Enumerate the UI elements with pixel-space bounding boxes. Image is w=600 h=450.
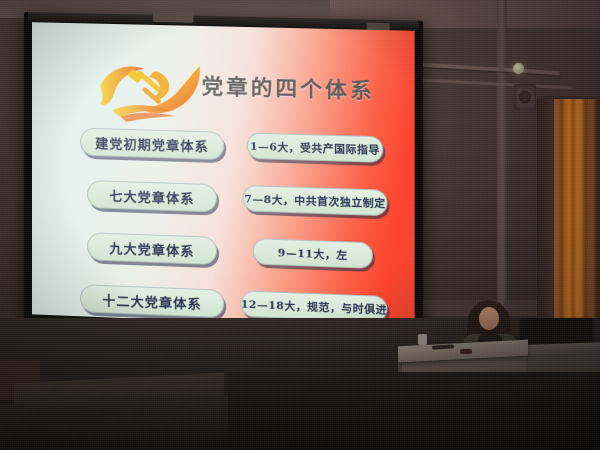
foreground-dark-right: [228, 372, 600, 450]
slide-title: 党章的四个体系: [202, 70, 409, 106]
projection-screen: 党章的四个体系 建党初期党章体系 1—6大，受共产国际指导 七大党章体系 7—8…: [24, 12, 423, 338]
right-pill-2: 9—11大，左: [253, 238, 373, 269]
left-pill-1: 七大党章体系: [87, 180, 217, 213]
screen-bracket-left: [153, 11, 194, 23]
left-pill-2: 九大党章体系: [87, 232, 217, 265]
right-pill-1: 7—8大，中共首次独立制定: [243, 185, 388, 216]
party-emblem-icon: [94, 52, 204, 125]
slide-rows: 建党初期党章体系 1—6大，受共产国际指导 七大党章体系 7—8大，中共首次独立…: [32, 126, 415, 330]
left-pill-3: 十二大党章体系: [80, 284, 224, 318]
ceiling-lamp: [513, 63, 524, 74]
desk-cup: [418, 334, 427, 345]
lecture-room-photo: 党章的四个体系 建党初期党章体系 1—6大，受共产国际指导 七大党章体系 7—8…: [0, 0, 600, 450]
wall-pillar: [497, 0, 507, 330]
desk-object-small: [460, 349, 472, 354]
left-pill-0: 建党初期党章体系: [80, 128, 224, 161]
presentation-slide: 党章的四个体系 建党初期党章体系 1—6大，受共产国际指导 七大党章体系 7—8…: [32, 22, 415, 330]
curtain-shadow-fold: [537, 99, 554, 347]
right-pill-0: 1—6大，受共产国际指导: [247, 132, 384, 163]
wall-speaker: [514, 84, 536, 110]
foreground-bench-lower: [0, 396, 250, 450]
presenter-face: [479, 307, 499, 330]
